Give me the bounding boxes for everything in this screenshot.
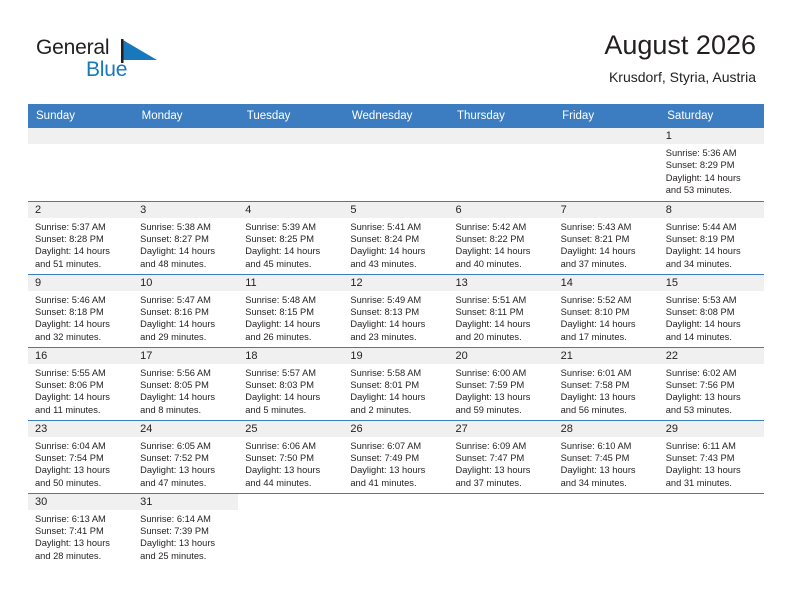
sunrise-text: Sunrise: 5:39 AM [245,221,338,233]
day-number [554,128,659,144]
daylight-text-line1: Daylight: 14 hours [666,172,759,184]
calendar-day-cell[interactable]: 15Sunrise: 5:53 AMSunset: 8:08 PMDayligh… [659,274,764,347]
day-cell-inner: 2Sunrise: 5:37 AMSunset: 8:28 PMDaylight… [28,202,133,274]
calendar-empty-cell [238,128,343,201]
daylight-text-line1: Daylight: 14 hours [350,318,443,330]
day-number: 12 [343,275,448,291]
sunrise-text: Sunrise: 5:46 AM [35,294,128,306]
day-number: 7 [554,202,659,218]
daylight-text-line2: and 53 minutes. [666,184,759,196]
day-cell-inner: 19Sunrise: 5:58 AMSunset: 8:01 PMDayligh… [343,348,448,420]
sunset-text: Sunset: 8:11 PM [456,306,549,318]
day-cell-details: Sunrise: 5:52 AMSunset: 8:10 PMDaylight:… [554,291,659,344]
sunrise-text: Sunrise: 5:44 AM [666,221,759,233]
daylight-text-line1: Daylight: 13 hours [35,537,128,549]
day-number: 16 [28,348,133,364]
day-cell-details: Sunrise: 5:38 AMSunset: 8:27 PMDaylight:… [133,218,238,271]
daylight-text-line1: Daylight: 13 hours [456,464,549,476]
logo-text-blue: Blue [86,58,127,82]
sunset-text: Sunset: 8:16 PM [140,306,233,318]
day-cell-inner: 5Sunrise: 5:41 AMSunset: 8:24 PMDaylight… [343,202,448,274]
day-cell-inner: 27Sunrise: 6:09 AMSunset: 7:47 PMDayligh… [449,421,554,493]
day-number: 22 [659,348,764,364]
day-number: 18 [238,348,343,364]
calendar-day-cell[interactable]: 16Sunrise: 5:55 AMSunset: 8:06 PMDayligh… [28,347,133,420]
sunset-text: Sunset: 8:25 PM [245,233,338,245]
day-number: 15 [659,275,764,291]
sunrise-text: Sunrise: 6:05 AM [140,440,233,452]
day-number [343,128,448,144]
calendar-week-row: 23Sunrise: 6:04 AMSunset: 7:54 PMDayligh… [28,420,764,493]
day-cell-inner: 22Sunrise: 6:02 AMSunset: 7:56 PMDayligh… [659,348,764,420]
daylight-text-line1: Daylight: 14 hours [456,318,549,330]
daylight-text-line2: and 20 minutes. [456,331,549,343]
calendar-empty-cell [28,128,133,201]
sunrise-text: Sunrise: 5:56 AM [140,367,233,379]
calendar-blank-cell [449,493,554,566]
daylight-text-line2: and 26 minutes. [245,331,338,343]
daylight-text-line2: and 45 minutes. [245,258,338,270]
sunrise-text: Sunrise: 5:58 AM [350,367,443,379]
sunrise-text: Sunrise: 6:06 AM [245,440,338,452]
day-cell-inner: 18Sunrise: 5:57 AMSunset: 8:03 PMDayligh… [238,348,343,420]
general-blue-logo[interactable]: General Blue [36,36,166,88]
sunrise-text: Sunrise: 6:04 AM [35,440,128,452]
page-subtitle: Krusdorf, Styria, Austria [604,67,756,87]
daylight-text-line2: and 25 minutes. [140,550,233,562]
calendar-day-cell[interactable]: 31Sunrise: 6:14 AMSunset: 7:39 PMDayligh… [133,493,238,566]
calendar-day-cell[interactable]: 25Sunrise: 6:06 AMSunset: 7:50 PMDayligh… [238,420,343,493]
day-cell-details: Sunrise: 5:42 AMSunset: 8:22 PMDaylight:… [449,218,554,271]
sunset-text: Sunset: 8:05 PM [140,379,233,391]
day-number: 14 [554,275,659,291]
sunset-text: Sunset: 8:10 PM [561,306,654,318]
daylight-text-line2: and 47 minutes. [140,477,233,489]
page-title: August 2026 [604,28,756,62]
title-block: August 2026 Krusdorf, Styria, Austria [604,28,756,87]
day-cell-details: Sunrise: 5:56 AMSunset: 8:05 PMDaylight:… [133,364,238,417]
daylight-text-line2: and 11 minutes. [35,404,128,416]
masthead: General Blue August 2026 Krusdorf, Styri… [0,0,792,104]
daylight-text-line1: Daylight: 14 hours [35,318,128,330]
calendar-empty-cell [554,128,659,201]
daylight-text-line1: Daylight: 14 hours [245,245,338,257]
calendar-day-cell[interactable]: 4Sunrise: 5:39 AMSunset: 8:25 PMDaylight… [238,201,343,274]
day-cell-details: Sunrise: 5:46 AMSunset: 8:18 PMDaylight:… [28,291,133,344]
day-number: 9 [28,275,133,291]
sunset-text: Sunset: 7:52 PM [140,452,233,464]
sunrise-text: Sunrise: 5:42 AM [456,221,549,233]
day-cell-inner: 1Sunrise: 5:36 AMSunset: 8:29 PMDaylight… [659,128,764,201]
weekday-header-tuesday: Tuesday [238,104,343,128]
daylight-text-line2: and 48 minutes. [140,258,233,270]
weekday-header-thursday: Thursday [449,104,554,128]
sunrise-text: Sunrise: 5:38 AM [140,221,233,233]
day-cell-inner [133,128,238,201]
calendar-day-cell[interactable]: 13Sunrise: 5:51 AMSunset: 8:11 PMDayligh… [449,274,554,347]
calendar-week-row: 16Sunrise: 5:55 AMSunset: 8:06 PMDayligh… [28,347,764,420]
sunrise-text: Sunrise: 5:41 AM [350,221,443,233]
day-cell-inner [28,128,133,201]
sunrise-text: Sunrise: 6:13 AM [35,513,128,525]
day-cell-inner: 13Sunrise: 5:51 AMSunset: 8:11 PMDayligh… [449,275,554,347]
day-cell-inner: 24Sunrise: 6:05 AMSunset: 7:52 PMDayligh… [133,421,238,493]
calendar-day-cell[interactable]: 9Sunrise: 5:46 AMSunset: 8:18 PMDaylight… [28,274,133,347]
sunrise-text: Sunrise: 5:47 AM [140,294,233,306]
day-number [449,128,554,144]
sunset-text: Sunset: 7:59 PM [456,379,549,391]
calendar-body: 1Sunrise: 5:36 AMSunset: 8:29 PMDaylight… [28,128,764,566]
day-number: 13 [449,275,554,291]
daylight-text-line1: Daylight: 14 hours [350,391,443,403]
day-cell-inner: 21Sunrise: 6:01 AMSunset: 7:58 PMDayligh… [554,348,659,420]
sunrise-text: Sunrise: 6:09 AM [456,440,549,452]
day-cell-inner: 10Sunrise: 5:47 AMSunset: 8:16 PMDayligh… [133,275,238,347]
day-cell-details: Sunrise: 6:00 AMSunset: 7:59 PMDaylight:… [449,364,554,417]
day-cell-inner [554,128,659,201]
daylight-text-line2: and 23 minutes. [350,331,443,343]
sunrise-text: Sunrise: 5:57 AM [245,367,338,379]
sunset-text: Sunset: 8:27 PM [140,233,233,245]
sunset-text: Sunset: 8:28 PM [35,233,128,245]
daylight-text-line1: Daylight: 14 hours [140,245,233,257]
calendar-day-cell[interactable]: 12Sunrise: 5:49 AMSunset: 8:13 PMDayligh… [343,274,448,347]
day-number: 5 [343,202,448,218]
calendar-day-cell[interactable]: 6Sunrise: 5:42 AMSunset: 8:22 PMDaylight… [449,201,554,274]
calendar-day-cell[interactable]: 17Sunrise: 5:56 AMSunset: 8:05 PMDayligh… [133,347,238,420]
sunrise-text: Sunrise: 5:37 AM [35,221,128,233]
day-cell-details: Sunrise: 6:05 AMSunset: 7:52 PMDaylight:… [133,437,238,490]
daylight-text-line1: Daylight: 13 hours [561,464,654,476]
day-cell-details: Sunrise: 5:51 AMSunset: 8:11 PMDaylight:… [449,291,554,344]
daylight-text-line2: and 44 minutes. [245,477,338,489]
calendar-day-cell[interactable]: 7Sunrise: 5:43 AMSunset: 8:21 PMDaylight… [554,201,659,274]
day-number: 17 [133,348,238,364]
sunset-text: Sunset: 7:50 PM [245,452,338,464]
calendar-day-cell[interactable]: 1Sunrise: 5:36 AMSunset: 8:29 PMDaylight… [659,128,764,201]
day-number [238,128,343,144]
sunrise-text: Sunrise: 6:10 AM [561,440,654,452]
day-cell-inner: 14Sunrise: 5:52 AMSunset: 8:10 PMDayligh… [554,275,659,347]
daylight-text-line1: Daylight: 14 hours [561,318,654,330]
daylight-text-line2: and 5 minutes. [245,404,338,416]
daylight-text-line2: and 53 minutes. [666,404,759,416]
daylight-text-line1: Daylight: 14 hours [35,391,128,403]
calendar-day-cell[interactable]: 23Sunrise: 6:04 AMSunset: 7:54 PMDayligh… [28,420,133,493]
calendar-page: General Blue August 2026 Krusdorf, Styri… [0,0,792,612]
calendar-day-cell[interactable]: 2Sunrise: 5:37 AMSunset: 8:28 PMDaylight… [28,201,133,274]
calendar-day-cell[interactable]: 14Sunrise: 5:52 AMSunset: 8:10 PMDayligh… [554,274,659,347]
day-cell-inner: 17Sunrise: 5:56 AMSunset: 8:05 PMDayligh… [133,348,238,420]
calendar-empty-cell [343,128,448,201]
day-cell-inner: 7Sunrise: 5:43 AMSunset: 8:21 PMDaylight… [554,202,659,274]
daylight-text-line1: Daylight: 13 hours [245,464,338,476]
sunrise-text: Sunrise: 5:36 AM [666,147,759,159]
day-cell-details: Sunrise: 6:13 AMSunset: 7:41 PMDaylight:… [28,510,133,563]
calendar-day-cell[interactable]: 20Sunrise: 6:00 AMSunset: 7:59 PMDayligh… [449,347,554,420]
weekday-header-saturday: Saturday [659,104,764,128]
daylight-text-line2: and 28 minutes. [35,550,128,562]
daylight-text-line1: Daylight: 13 hours [350,464,443,476]
daylight-text-line1: Daylight: 14 hours [245,318,338,330]
calendar-header-row: Sunday Monday Tuesday Wednesday Thursday… [28,104,764,128]
calendar-blank-cell [554,493,659,566]
sunset-text: Sunset: 8:15 PM [245,306,338,318]
calendar-day-cell[interactable]: 26Sunrise: 6:07 AMSunset: 7:49 PMDayligh… [343,420,448,493]
day-number: 28 [554,421,659,437]
calendar-day-cell[interactable]: 3Sunrise: 5:38 AMSunset: 8:27 PMDaylight… [133,201,238,274]
daylight-text-line1: Daylight: 14 hours [245,391,338,403]
sunset-text: Sunset: 8:18 PM [35,306,128,318]
day-cell-inner: 6Sunrise: 5:42 AMSunset: 8:22 PMDaylight… [449,202,554,274]
day-number: 25 [238,421,343,437]
calendar-day-cell[interactable]: 8Sunrise: 5:44 AMSunset: 8:19 PMDaylight… [659,201,764,274]
day-number: 4 [238,202,343,218]
daylight-text-line2: and 41 minutes. [350,477,443,489]
daylight-text-line2: and 37 minutes. [456,477,549,489]
sunset-text: Sunset: 8:01 PM [350,379,443,391]
sunset-text: Sunset: 8:08 PM [666,306,759,318]
day-number: 1 [659,128,764,144]
calendar-empty-cell [133,128,238,201]
calendar-day-cell[interactable]: 22Sunrise: 6:02 AMSunset: 7:56 PMDayligh… [659,347,764,420]
daylight-text-line1: Daylight: 13 hours [140,537,233,549]
day-cell-inner [238,128,343,201]
sunset-text: Sunset: 8:21 PM [561,233,654,245]
day-cell-inner: 16Sunrise: 5:55 AMSunset: 8:06 PMDayligh… [28,348,133,420]
daylight-text-line1: Daylight: 14 hours [350,245,443,257]
day-cell-details: Sunrise: 5:58 AMSunset: 8:01 PMDaylight:… [343,364,448,417]
day-cell-inner: 9Sunrise: 5:46 AMSunset: 8:18 PMDaylight… [28,275,133,347]
sunrise-text: Sunrise: 6:02 AM [666,367,759,379]
day-number: 19 [343,348,448,364]
day-number: 3 [133,202,238,218]
day-number: 21 [554,348,659,364]
daylight-text-line1: Daylight: 13 hours [666,391,759,403]
calendar-day-cell[interactable]: 29Sunrise: 6:11 AMSunset: 7:43 PMDayligh… [659,420,764,493]
day-cell-inner: 8Sunrise: 5:44 AMSunset: 8:19 PMDaylight… [659,202,764,274]
day-cell-details: Sunrise: 5:44 AMSunset: 8:19 PMDaylight:… [659,218,764,271]
daylight-text-line2: and 14 minutes. [666,331,759,343]
daylight-text-line2: and 43 minutes. [350,258,443,270]
calendar-week-row: 30Sunrise: 6:13 AMSunset: 7:41 PMDayligh… [28,493,764,566]
day-cell-inner [449,128,554,201]
day-number [28,128,133,144]
calendar-week-row: 1Sunrise: 5:36 AMSunset: 8:29 PMDaylight… [28,128,764,201]
day-number: 10 [133,275,238,291]
day-cell-details: Sunrise: 5:49 AMSunset: 8:13 PMDaylight:… [343,291,448,344]
day-cell-details: Sunrise: 6:09 AMSunset: 7:47 PMDaylight:… [449,437,554,490]
day-number: 11 [238,275,343,291]
day-cell-details: Sunrise: 5:55 AMSunset: 8:06 PMDaylight:… [28,364,133,417]
day-number: 8 [659,202,764,218]
day-cell-details: Sunrise: 5:43 AMSunset: 8:21 PMDaylight:… [554,218,659,271]
sunrise-text: Sunrise: 5:48 AM [245,294,338,306]
daylight-text-line1: Daylight: 14 hours [456,245,549,257]
daylight-text-line1: Daylight: 13 hours [35,464,128,476]
day-cell-details: Sunrise: 5:47 AMSunset: 8:16 PMDaylight:… [133,291,238,344]
sunset-text: Sunset: 7:43 PM [666,452,759,464]
day-cell-details: Sunrise: 5:36 AMSunset: 8:29 PMDaylight:… [659,144,764,197]
sunrise-text: Sunrise: 6:07 AM [350,440,443,452]
day-number: 29 [659,421,764,437]
sunrise-text: Sunrise: 5:52 AM [561,294,654,306]
calendar-grid: Sunday Monday Tuesday Wednesday Thursday… [28,104,764,567]
daylight-text-line2: and 51 minutes. [35,258,128,270]
day-cell-inner [343,128,448,201]
calendar-day-cell[interactable]: 18Sunrise: 5:57 AMSunset: 8:03 PMDayligh… [238,347,343,420]
sunset-text: Sunset: 7:54 PM [35,452,128,464]
day-cell-details: Sunrise: 6:14 AMSunset: 7:39 PMDaylight:… [133,510,238,563]
day-cell-inner: 29Sunrise: 6:11 AMSunset: 7:43 PMDayligh… [659,421,764,493]
day-cell-details: Sunrise: 5:37 AMSunset: 8:28 PMDaylight:… [28,218,133,271]
sunset-text: Sunset: 8:24 PM [350,233,443,245]
daylight-text-line2: and 29 minutes. [140,331,233,343]
day-cell-details: Sunrise: 6:01 AMSunset: 7:58 PMDaylight:… [554,364,659,417]
day-cell-inner: 11Sunrise: 5:48 AMSunset: 8:15 PMDayligh… [238,275,343,347]
daylight-text-line1: Daylight: 13 hours [666,464,759,476]
calendar-blank-cell [659,493,764,566]
calendar-day-cell[interactable]: 5Sunrise: 5:41 AMSunset: 8:24 PMDaylight… [343,201,448,274]
day-cell-details: Sunrise: 6:11 AMSunset: 7:43 PMDaylight:… [659,437,764,490]
daylight-text-line1: Daylight: 14 hours [666,318,759,330]
day-cell-details: Sunrise: 6:06 AMSunset: 7:50 PMDaylight:… [238,437,343,490]
daylight-text-line2: and 50 minutes. [35,477,128,489]
daylight-text-line1: Daylight: 14 hours [35,245,128,257]
sunrise-text: Sunrise: 5:53 AM [666,294,759,306]
weekday-header-monday: Monday [133,104,238,128]
day-cell-inner: 4Sunrise: 5:39 AMSunset: 8:25 PMDaylight… [238,202,343,274]
calendar-empty-cell [449,128,554,201]
day-cell-inner: 25Sunrise: 6:06 AMSunset: 7:50 PMDayligh… [238,421,343,493]
daylight-text-line2: and 31 minutes. [666,477,759,489]
daylight-text-line1: Daylight: 14 hours [561,245,654,257]
sunrise-text: Sunrise: 5:49 AM [350,294,443,306]
calendar-day-cell[interactable]: 24Sunrise: 6:05 AMSunset: 7:52 PMDayligh… [133,420,238,493]
daylight-text-line2: and 34 minutes. [561,477,654,489]
logo-text-general: General [36,36,109,60]
day-cell-inner: 28Sunrise: 6:10 AMSunset: 7:45 PMDayligh… [554,421,659,493]
day-cell-details: Sunrise: 5:48 AMSunset: 8:15 PMDaylight:… [238,291,343,344]
sunset-text: Sunset: 8:13 PM [350,306,443,318]
daylight-text-line2: and 8 minutes. [140,404,233,416]
day-cell-inner: 23Sunrise: 6:04 AMSunset: 7:54 PMDayligh… [28,421,133,493]
daylight-text-line1: Daylight: 14 hours [140,318,233,330]
calendar-week-row: 9Sunrise: 5:46 AMSunset: 8:18 PMDaylight… [28,274,764,347]
day-number: 2 [28,202,133,218]
day-cell-details: Sunrise: 6:07 AMSunset: 7:49 PMDaylight:… [343,437,448,490]
daylight-text-line2: and 40 minutes. [456,258,549,270]
day-cell-details: Sunrise: 5:39 AMSunset: 8:25 PMDaylight:… [238,218,343,271]
daylight-text-line2: and 56 minutes. [561,404,654,416]
calendar-day-cell[interactable]: 21Sunrise: 6:01 AMSunset: 7:58 PMDayligh… [554,347,659,420]
sunset-text: Sunset: 7:49 PM [350,452,443,464]
sunrise-text: Sunrise: 5:55 AM [35,367,128,379]
sunset-text: Sunset: 8:19 PM [666,233,759,245]
day-number: 27 [449,421,554,437]
day-cell-details: Sunrise: 6:10 AMSunset: 7:45 PMDaylight:… [554,437,659,490]
day-number: 31 [133,494,238,510]
sunset-text: Sunset: 7:58 PM [561,379,654,391]
weekday-header-friday: Friday [554,104,659,128]
daylight-text-line1: Daylight: 13 hours [561,391,654,403]
sunrise-text: Sunrise: 6:11 AM [666,440,759,452]
sunrise-text: Sunrise: 5:51 AM [456,294,549,306]
sunset-text: Sunset: 7:41 PM [35,525,128,537]
day-cell-details: Sunrise: 6:04 AMSunset: 7:54 PMDaylight:… [28,437,133,490]
weekday-header-wednesday: Wednesday [343,104,448,128]
calendar-day-cell[interactable]: 28Sunrise: 6:10 AMSunset: 7:45 PMDayligh… [554,420,659,493]
calendar-day-cell[interactable]: 30Sunrise: 6:13 AMSunset: 7:41 PMDayligh… [28,493,133,566]
sunset-text: Sunset: 8:29 PM [666,159,759,171]
day-number: 20 [449,348,554,364]
day-number: 30 [28,494,133,510]
daylight-text-line1: Daylight: 13 hours [456,391,549,403]
sunset-text: Sunset: 8:22 PM [456,233,549,245]
sunset-text: Sunset: 8:06 PM [35,379,128,391]
daylight-text-line1: Daylight: 14 hours [140,391,233,403]
day-cell-inner: 31Sunrise: 6:14 AMSunset: 7:39 PMDayligh… [133,494,238,566]
daylight-text-line2: and 34 minutes. [666,258,759,270]
calendar-week-row: 2Sunrise: 5:37 AMSunset: 8:28 PMDaylight… [28,201,764,274]
day-cell-details: Sunrise: 6:02 AMSunset: 7:56 PMDaylight:… [659,364,764,417]
day-cell-details: Sunrise: 5:41 AMSunset: 8:24 PMDaylight:… [343,218,448,271]
daylight-text-line2: and 59 minutes. [456,404,549,416]
sunrise-text: Sunrise: 6:01 AM [561,367,654,379]
calendar-day-cell[interactable]: 11Sunrise: 5:48 AMSunset: 8:15 PMDayligh… [238,274,343,347]
day-number [133,128,238,144]
day-cell-inner: 30Sunrise: 6:13 AMSunset: 7:41 PMDayligh… [28,494,133,566]
day-cell-inner: 12Sunrise: 5:49 AMSunset: 8:13 PMDayligh… [343,275,448,347]
sunset-text: Sunset: 7:47 PM [456,452,549,464]
sunset-text: Sunset: 7:39 PM [140,525,233,537]
day-cell-inner: 26Sunrise: 6:07 AMSunset: 7:49 PMDayligh… [343,421,448,493]
daylight-text-line1: Daylight: 13 hours [140,464,233,476]
sunset-text: Sunset: 7:45 PM [561,452,654,464]
weekday-header-sunday: Sunday [28,104,133,128]
sunrise-text: Sunrise: 6:14 AM [140,513,233,525]
daylight-text-line2: and 37 minutes. [561,258,654,270]
day-cell-inner: 20Sunrise: 6:00 AMSunset: 7:59 PMDayligh… [449,348,554,420]
day-number: 24 [133,421,238,437]
sunset-text: Sunset: 7:56 PM [666,379,759,391]
day-number: 26 [343,421,448,437]
sunrise-text: Sunrise: 5:43 AM [561,221,654,233]
day-cell-details: Sunrise: 5:57 AMSunset: 8:03 PMDaylight:… [238,364,343,417]
sunrise-text: Sunrise: 6:00 AM [456,367,549,379]
daylight-text-line2: and 2 minutes. [350,404,443,416]
daylight-text-line2: and 32 minutes. [35,331,128,343]
calendar-blank-cell [343,493,448,566]
calendar-day-cell[interactable]: 27Sunrise: 6:09 AMSunset: 7:47 PMDayligh… [449,420,554,493]
calendar-day-cell[interactable]: 10Sunrise: 5:47 AMSunset: 8:16 PMDayligh… [133,274,238,347]
daylight-text-line1: Daylight: 14 hours [666,245,759,257]
day-cell-details: Sunrise: 5:53 AMSunset: 8:08 PMDaylight:… [659,291,764,344]
daylight-text-line2: and 17 minutes. [561,331,654,343]
day-cell-inner: 15Sunrise: 5:53 AMSunset: 8:08 PMDayligh… [659,275,764,347]
day-cell-inner: 3Sunrise: 5:38 AMSunset: 8:27 PMDaylight… [133,202,238,274]
calendar-blank-cell [238,493,343,566]
calendar-day-cell[interactable]: 19Sunrise: 5:58 AMSunset: 8:01 PMDayligh… [343,347,448,420]
day-number: 23 [28,421,133,437]
sunset-text: Sunset: 8:03 PM [245,379,338,391]
day-number: 6 [449,202,554,218]
